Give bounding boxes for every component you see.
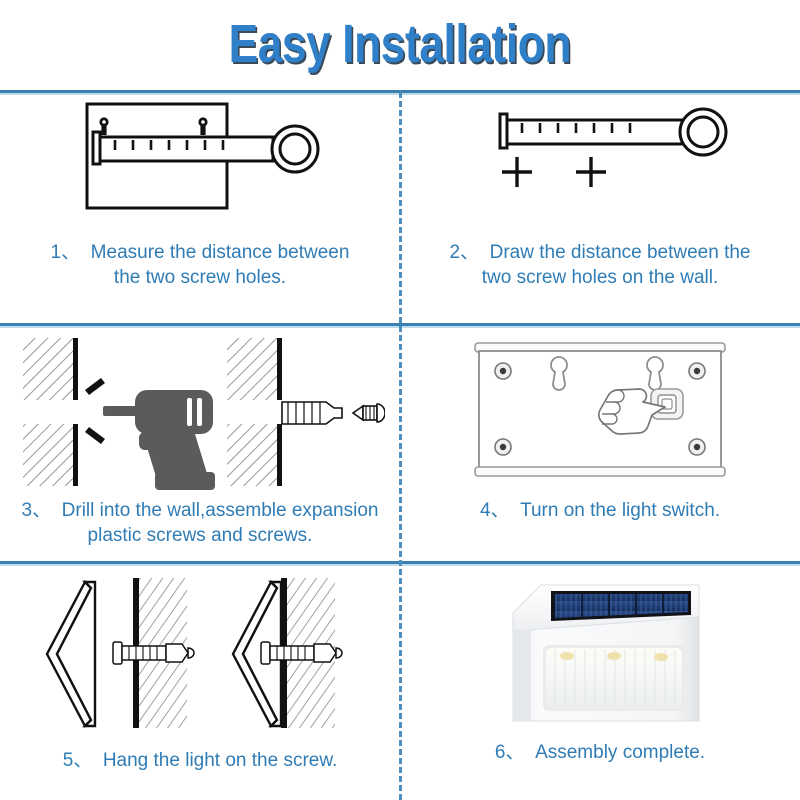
assembled-solar-light-photo: [485, 571, 715, 729]
step-2-number: 2、: [449, 242, 479, 263]
screw-anchor-right: [261, 642, 342, 664]
light-detached: [47, 582, 95, 726]
step-3-caption: 3、 Drill into the wall,assemble expansio…: [8, 498, 393, 549]
drill-wall-anchor-screw-icon: [15, 332, 385, 492]
step-4-cell: 4、 Turn on the light switch.: [400, 332, 800, 560]
step-1-number: 1、: [51, 242, 81, 263]
step-5-illustration: [0, 570, 400, 738]
step-3-cell: 3、 Drill into the wall,assemble expansio…: [0, 332, 400, 560]
step-1-text: Measure the distance between the two scr…: [91, 242, 350, 288]
light-switch-button: [651, 389, 683, 419]
step-6-cell: 6、 Assembly complete.: [400, 570, 800, 800]
fixture-back-plate-hand-switch-icon: [469, 337, 731, 487]
page-title: Easy Installation: [229, 17, 571, 71]
wall-right: [227, 338, 282, 486]
easy-installation-infographic: Easy Installation: [0, 0, 800, 800]
step-3-text: Drill into the wall,assemble expansion p…: [62, 500, 379, 546]
wall-left: [23, 338, 78, 486]
step-5-cell: 5、 Hang the light on the screw.: [0, 570, 400, 800]
step-6-text: Assembly complete.: [535, 742, 705, 763]
step-1-illustration: [0, 96, 400, 226]
step-4-number: 4、: [480, 500, 510, 521]
tape-measure-on-plate-icon: [55, 96, 345, 226]
step-3-number: 3、: [22, 500, 52, 521]
step-2-text: Draw the distance between the two screw …: [482, 242, 751, 288]
drill-impact-marks: [85, 378, 105, 444]
page-title-bar: Easy Installation: [0, 0, 800, 88]
step-6-caption: 6、 Assembly complete.: [481, 740, 719, 765]
step-6-illustration: [400, 570, 800, 730]
step-5-caption: 5、 Hang the light on the screw.: [49, 748, 352, 773]
step-1-caption: 1、 Measure the distance between the two …: [37, 240, 364, 291]
led-diffuser: [543, 645, 685, 711]
step-4-caption: 4、 Turn on the light switch.: [466, 498, 734, 523]
step-2-cell: 2、 Draw the distance between the two scr…: [400, 96, 800, 322]
wall-anchor: [282, 402, 342, 424]
screw: [353, 404, 385, 422]
wall-cross-marks: [502, 157, 606, 187]
power-drill: [103, 390, 215, 490]
step-2-illustration: [400, 96, 800, 226]
step-6-number: 6、: [495, 742, 525, 763]
step-5-number: 5、: [63, 750, 93, 771]
step-1-cell: 1、 Measure the distance between the two …: [0, 96, 400, 322]
step-3-illustration: [0, 332, 400, 492]
step-5-text: Hang the light on the screw.: [103, 750, 337, 771]
step-4-illustration: [400, 332, 800, 492]
hang-light-on-screw-icon: [25, 570, 375, 738]
tape-measure-with-cross-marks-icon: [450, 96, 750, 226]
screw-anchor-left: [113, 642, 194, 664]
step-4-text: Turn on the light switch.: [520, 500, 720, 521]
step-2-caption: 2、 Draw the distance between the two scr…: [435, 240, 764, 291]
